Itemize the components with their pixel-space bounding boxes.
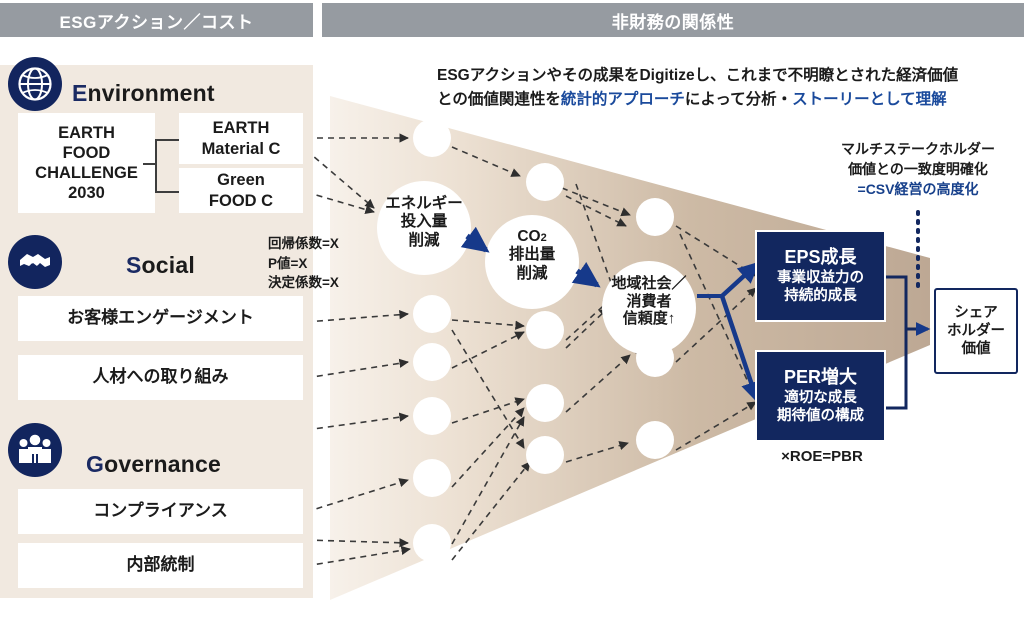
lead-line2a: との価値関連性を (437, 91, 561, 108)
box-customer-engagement[interactable]: お客様エンゲージメント (18, 296, 303, 341)
box-internal-control[interactable]: 内部統制 (18, 543, 303, 588)
eps-sub: 事業収益力の持続的成長 (777, 270, 864, 305)
esg-title-social: Social (126, 252, 195, 279)
roe-pbr-note: ×ROE=PBR (758, 448, 886, 465)
box-earth-food-challenge[interactable]: EARTHFOODCHALLENGE2030 (18, 113, 155, 213)
lead-highlight-2: ストーリーとして理解 (792, 91, 947, 108)
diagram-canvas: ESGアクション／コスト 非財務の関係性 (0, 0, 1024, 618)
lead-line1: ESGアクションやその成果をDigitizeし、これまで不明瞭とされた経済価値 (437, 67, 958, 84)
multi-note-line-1: マルチステークホルダー (812, 140, 1024, 160)
box-earth-material-c[interactable]: EARTHMaterial C (179, 113, 303, 164)
stats-line-1: 回帰係数=X (268, 234, 339, 254)
box-shareholder-value[interactable]: シェアホルダー価値 (934, 288, 1018, 374)
per-sub: 適切な成長期待値の構成 (777, 390, 864, 425)
esg-title-environment: Environment (72, 80, 215, 107)
stats-line-3: 決定係数=X (268, 273, 339, 293)
box-human-capital[interactable]: 人材への取り組み (18, 355, 303, 400)
stats-line-2: P値=X (268, 254, 339, 274)
stats-annotation: 回帰係数=X P値=X 決定係数=X (268, 234, 339, 293)
handshake-icon (8, 235, 62, 289)
box-eps-growth[interactable]: EPS成長 事業収益力の持続的成長 (757, 232, 884, 320)
multi-stakeholder-note: マルチステークホルダー 価値との一致度明確化 =CSV経営の高度化 (812, 140, 1024, 200)
bracket-stem (143, 163, 157, 165)
multi-note-line-3: =CSV経営の高度化 (812, 180, 1024, 200)
box-green-food-c[interactable]: GreenFOOD C (179, 168, 303, 213)
lead-paragraph: ESGアクションやその成果をDigitizeし、これまで不明瞭とされた経済価値 … (437, 64, 1017, 112)
box-compliance[interactable]: コンプライアンス (18, 489, 303, 534)
globe-icon (8, 57, 62, 111)
bracket-connector (155, 139, 181, 193)
shareholder-label: シェアホルダー価値 (947, 304, 1005, 358)
per-title: PER増大 (784, 367, 857, 389)
lead-highlight-1: 統計的アプローチ (561, 91, 685, 108)
eps-title: EPS成長 (784, 247, 856, 269)
esg-title-governance: Governance (86, 451, 221, 478)
lead-line2b: によって分析・ (685, 91, 792, 108)
box-per-increase[interactable]: PER増大 適切な成長期待値の構成 (757, 352, 884, 440)
multi-note-line-2: 価値との一致度明確化 (812, 160, 1024, 180)
people-icon (8, 423, 62, 477)
